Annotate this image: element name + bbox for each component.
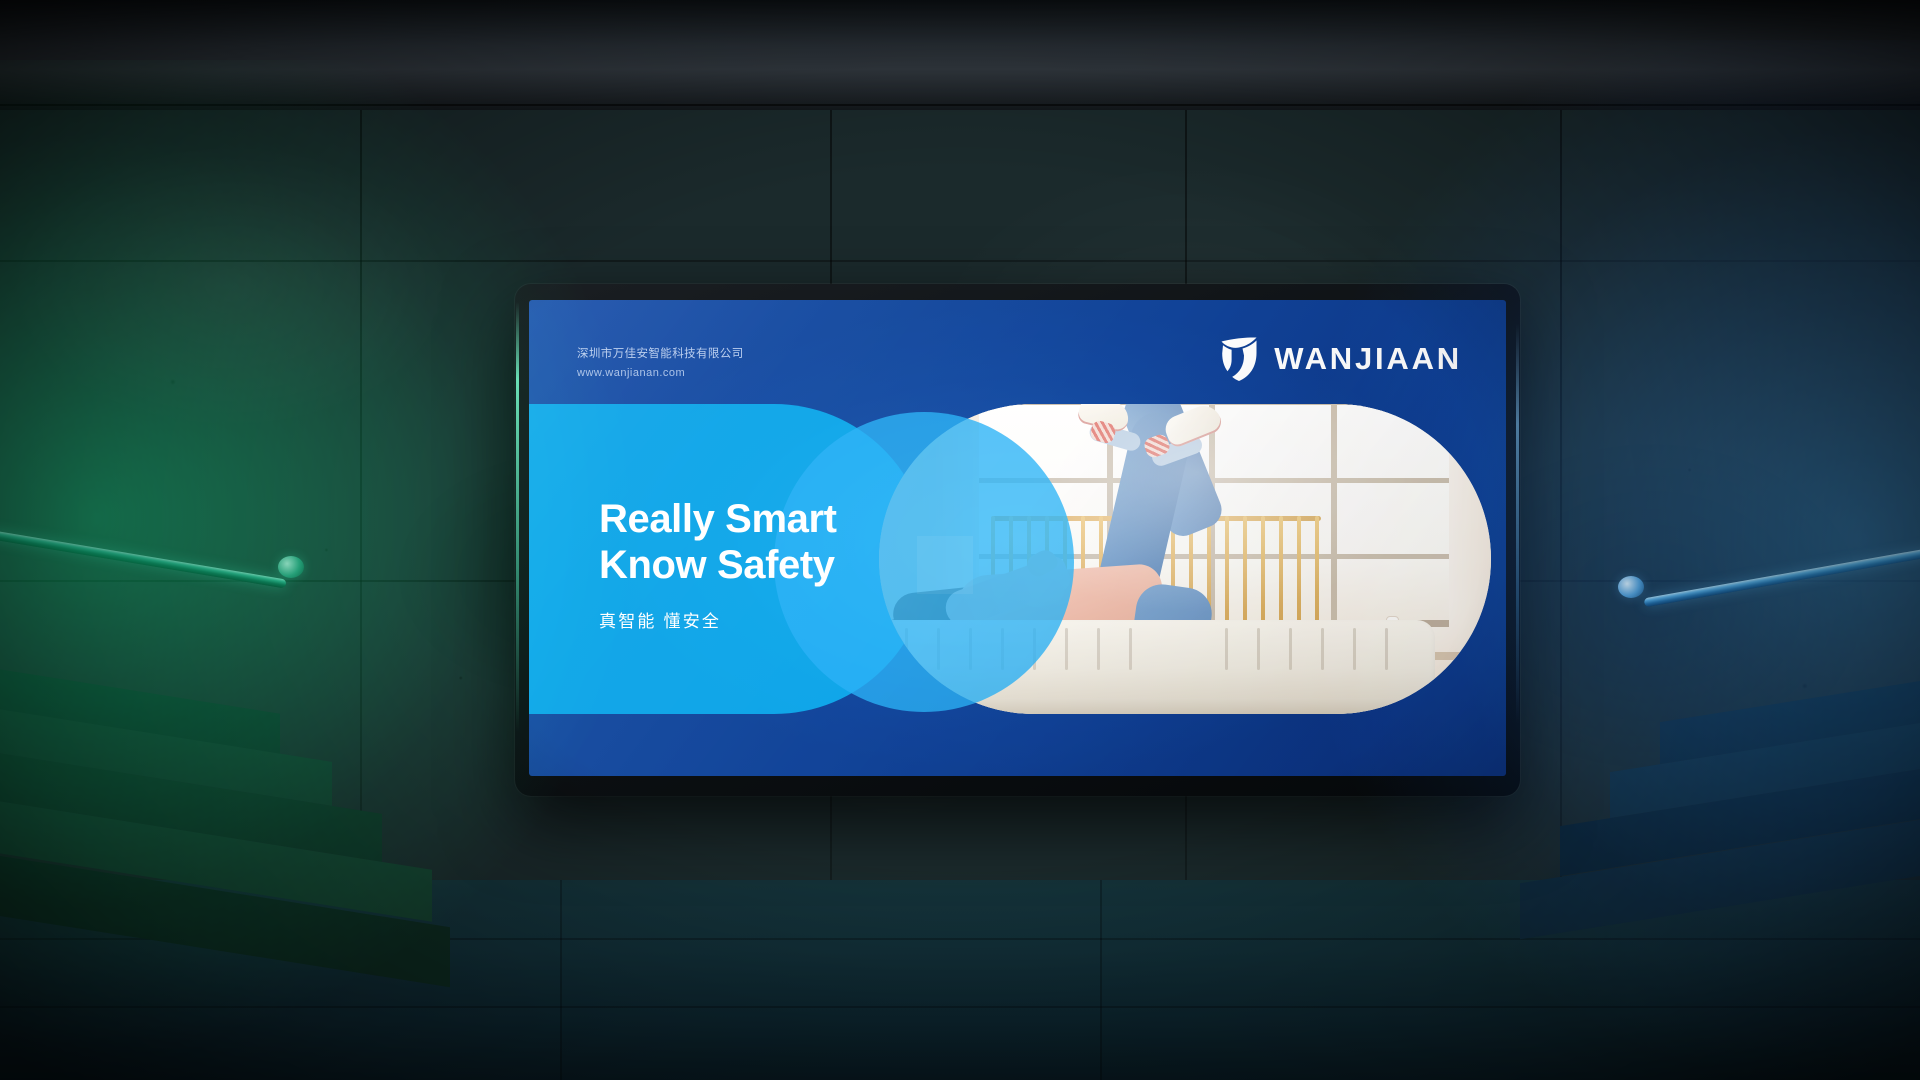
handrail-left-bracket — [278, 556, 304, 578]
headline-line-2: Know Safety — [599, 542, 837, 588]
corporate-info: 深圳市万佳安智能科技有限公司 www.wanjianan.com — [577, 344, 744, 383]
advertisement-creative: 深圳市万佳安智能科技有限公司 www.wanjianan.com WANJIAA… — [529, 300, 1506, 776]
logo-wordmark: WANJIAAN — [1274, 341, 1462, 377]
overlap-highlight-square — [917, 536, 973, 594]
company-name: 深圳市万佳安智能科技有限公司 — [577, 344, 744, 364]
headline-block: Really Smart Know Safety 真智能 懂安全 — [599, 496, 837, 632]
stairs-left — [0, 690, 450, 1080]
digital-billboard-display[interactable]: 深圳市万佳安智能科技有限公司 www.wanjianan.com WANJIAA… — [515, 284, 1520, 796]
brand-logo: WANJIAAN — [1218, 336, 1462, 382]
headline-line-1: Really Smart — [599, 496, 837, 542]
bezel-edge-glow-left — [516, 302, 519, 732]
handrail-right-bracket — [1618, 576, 1644, 598]
headline-subtitle: 真智能 懂安全 — [599, 607, 837, 632]
wanjiaan-shield-icon — [1218, 336, 1260, 382]
underground-corridor-scene: 深圳市万佳安智能科技有限公司 www.wanjianan.com WANJIAA… — [0, 0, 1920, 1080]
stairs-right — [1520, 700, 1920, 1080]
ceiling — [0, 0, 1920, 120]
bezel-edge-glow-right — [1516, 324, 1519, 724]
company-website: www.wanjianan.com — [577, 364, 744, 383]
